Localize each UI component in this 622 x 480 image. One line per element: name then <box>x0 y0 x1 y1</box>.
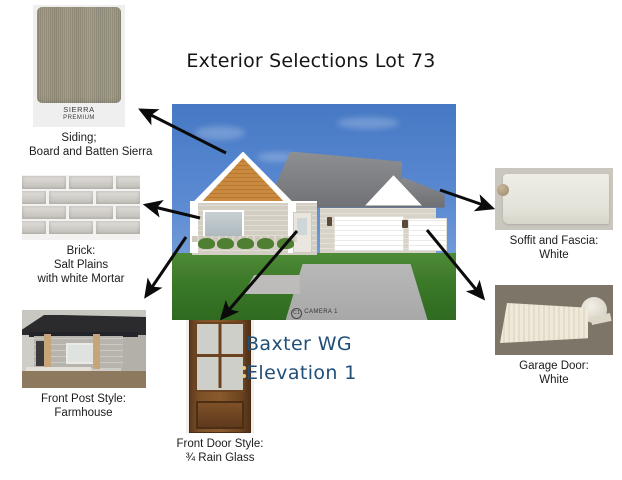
front-door-caption-line1: Front Door Style: <box>160 437 280 451</box>
single-garage-door <box>408 218 447 250</box>
house-elevation-rendering: C1CAMERA 1 <box>172 104 456 320</box>
siding-caption: Siding; Board and Batten Sierra <box>29 131 129 159</box>
siding-swatch-card: SIERRA PREMIUM <box>33 5 125 127</box>
coach-light-2 <box>402 220 408 229</box>
siding-color-chip <box>37 7 121 103</box>
elevation-label-line1: Baxter WG <box>246 330 357 359</box>
camera-label: C1CAMERA 1 <box>291 308 338 319</box>
front-door-caption-line2: ¾ Rain Glass <box>160 451 280 465</box>
camera-badge: C1 <box>291 308 302 319</box>
camera-label-text: CAMERA 1 <box>304 309 338 315</box>
front-post-caption: Front Post Style: Farmhouse <box>16 392 151 420</box>
double-garage-door <box>334 216 404 250</box>
brick-sample: Brick: Salt Plains with white Mortar <box>16 175 146 286</box>
front-post-caption-line1: Front Post Style: <box>16 392 151 406</box>
porch-column-left <box>190 201 197 253</box>
soffit-sample: Soffit and Fascia: White <box>489 168 619 262</box>
front-post-photo <box>22 310 146 388</box>
garage-door-caption-line1: Garage Door: <box>489 359 619 373</box>
brick-swatch-image <box>22 175 140 240</box>
soffit-caption-line1: Soffit and Fascia: <box>489 234 619 248</box>
brick-caption-line3: with white Mortar <box>16 272 146 286</box>
elevation-label: Baxter WG Elevation 1 <box>246 330 357 388</box>
garage-door-caption: Garage Door: White <box>489 359 619 387</box>
coach-light-1 <box>327 217 333 226</box>
soffit-caption: Soffit and Fascia: White <box>489 234 619 262</box>
garage-door-sample: Garage Door: White <box>489 285 619 387</box>
front-door-photo <box>186 313 254 433</box>
brick-caption-line1: Brick: <box>16 244 146 258</box>
exterior-selections-sheet: Exterior Selections Lot 73 SIERRA PREMIU… <box>0 0 622 480</box>
soffit-swatch-image <box>495 168 613 230</box>
garage-door-caption-line2: White <box>489 373 619 387</box>
front-post-caption-line2: Farmhouse <box>16 406 151 420</box>
front-post-sample: Front Post Style: Farmhouse <box>16 310 151 420</box>
front-door-caption: Front Door Style: ¾ Rain Glass <box>160 437 280 465</box>
brick-caption-line2: Salt Plains <box>16 258 146 272</box>
garage-door-swatch-image <box>495 285 613 355</box>
siding-caption-line2: Board and Batten Sierra <box>29 145 129 159</box>
siding-sample: SIERRA PREMIUM Siding; Board and Batten … <box>29 5 129 159</box>
siding-caption-line1: Siding; <box>29 131 129 145</box>
siding-swatch-name-line2: PREMIUM <box>33 115 125 121</box>
siding-swatch-name: SIERRA PREMIUM <box>33 105 125 121</box>
elevation-label-line2: Elevation 1 <box>246 359 357 388</box>
soffit-caption-line2: White <box>489 248 619 262</box>
brick-caption: Brick: Salt Plains with white Mortar <box>16 244 146 286</box>
siding-swatch-name-line1: SIERRA <box>33 105 125 114</box>
front-entry-door <box>293 212 312 253</box>
